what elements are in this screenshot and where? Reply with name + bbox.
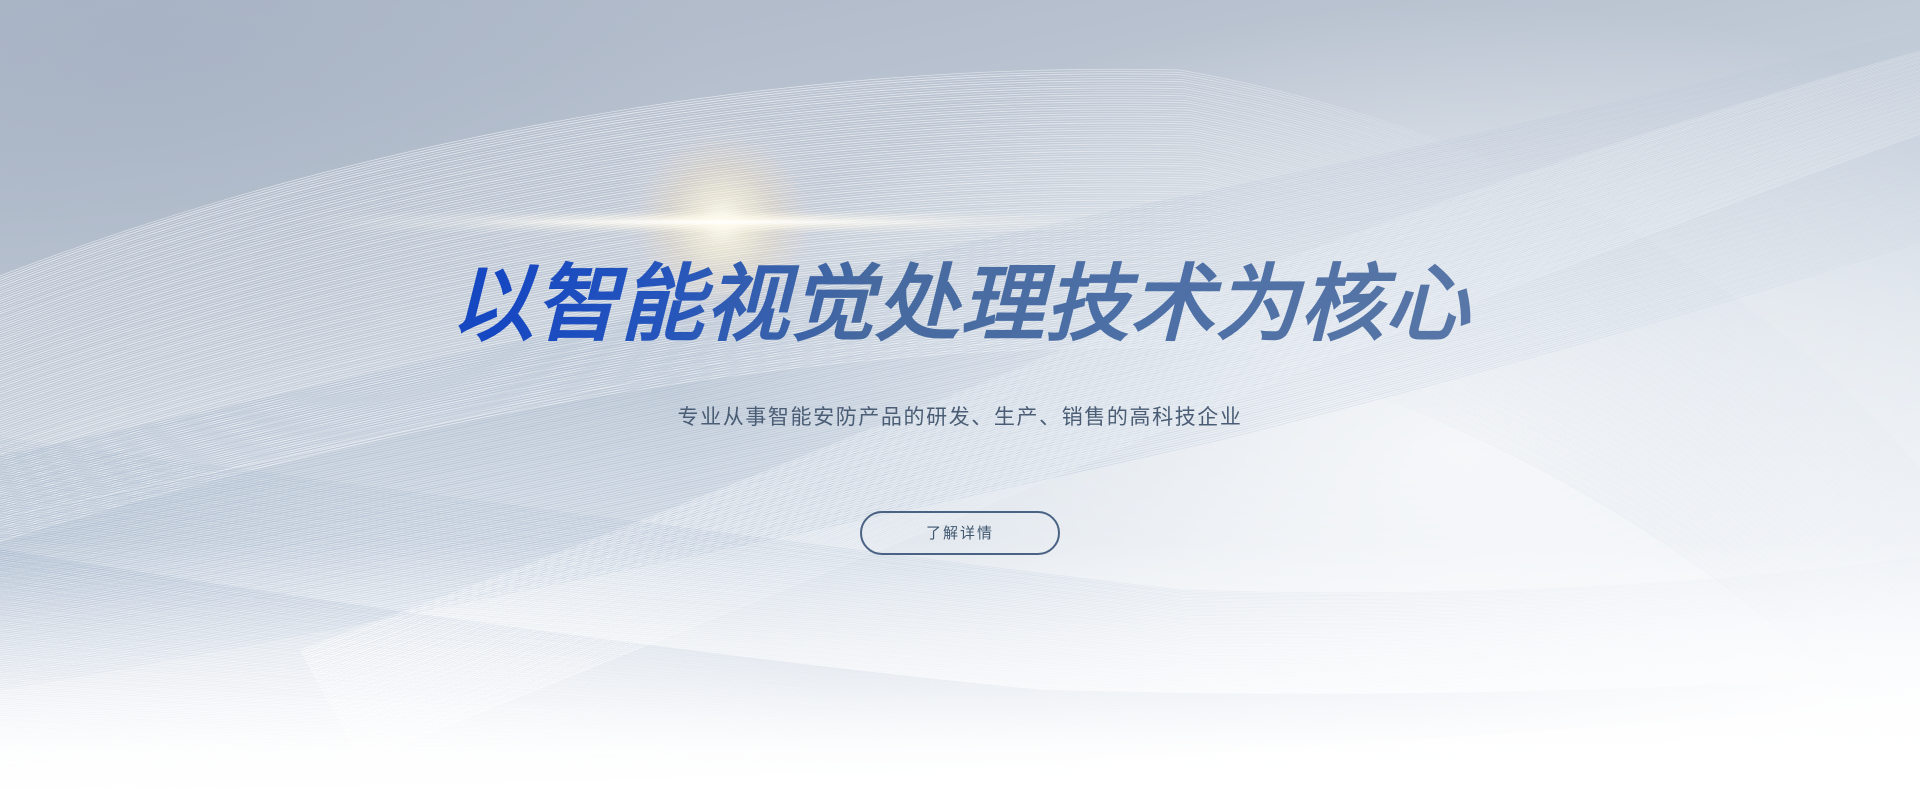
hero-banner: 以智能视觉处理技术为核心 专业从事智能安防产品的研发、生产、销售的高科技企业 了… xyxy=(0,0,1920,800)
background-wave-mesh xyxy=(0,0,1920,800)
bottom-white-fade xyxy=(0,540,1920,800)
page-title: 以智能视觉处理技术为核心 xyxy=(0,258,1920,350)
hero-subtitle: 专业从事智能安防产品的研发、生产、销售的高科技企业 xyxy=(0,402,1920,434)
learn-more-button[interactable]: 了解详情 xyxy=(860,511,1060,555)
cta-container: 了解详情 xyxy=(0,511,1920,555)
background-luminance-wash xyxy=(0,0,1920,800)
